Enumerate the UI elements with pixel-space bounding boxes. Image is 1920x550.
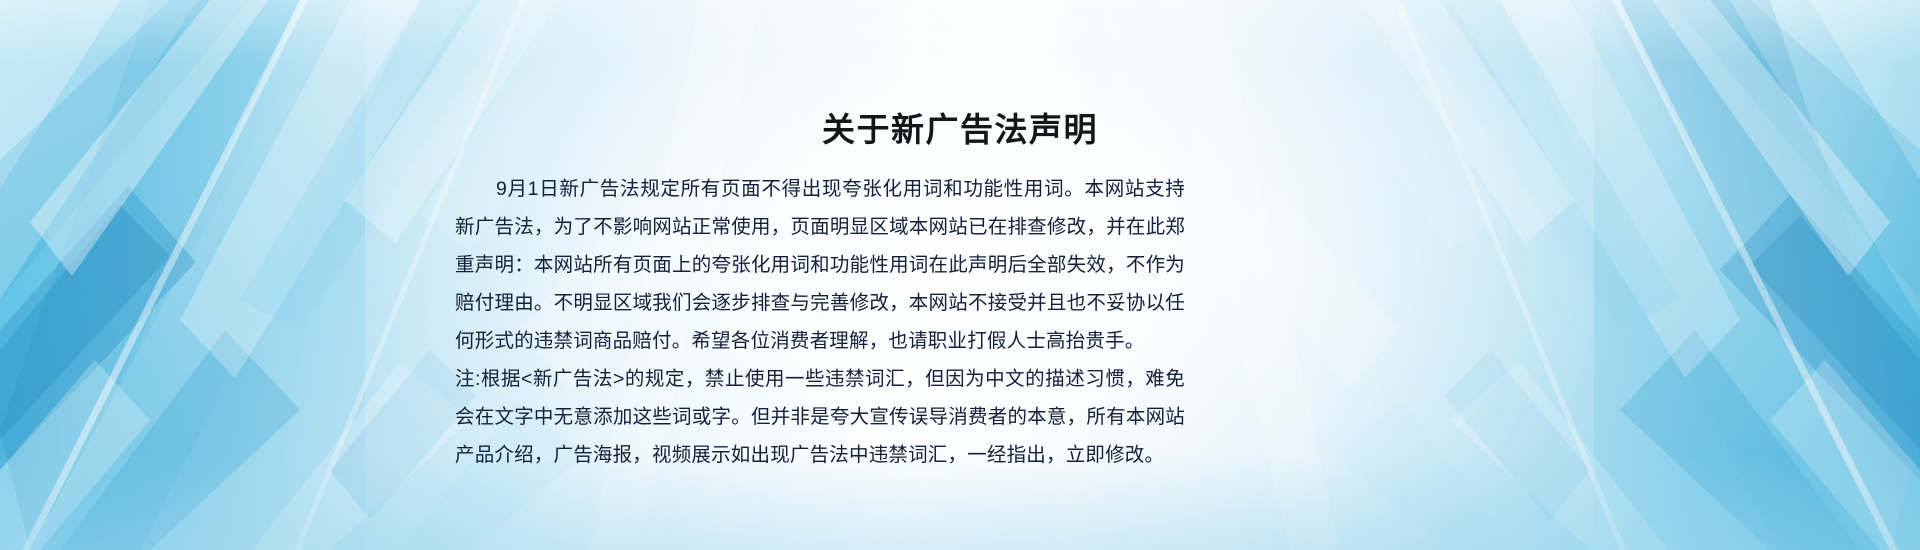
statement-paragraph-main: 9月1日新广告法规定所有页面不得出现夸张化用词和功能性用词。本网站支持新广告法，… (455, 170, 1185, 360)
page-title: 关于新广告法声明 (0, 110, 1920, 150)
statement-body: 9月1日新广告法规定所有页面不得出现夸张化用词和功能性用词。本网站支持新广告法，… (455, 170, 1185, 474)
banner-content: 关于新广告法声明 9月1日新广告法规定所有页面不得出现夸张化用词和功能性用词。本… (0, 0, 1920, 550)
advertising-law-statement-banner: 关于新广告法声明 9月1日新广告法规定所有页面不得出现夸张化用词和功能性用词。本… (0, 0, 1920, 550)
statement-paragraph-note: 注:根据<新广告法>的规定，禁止使用一些违禁词汇，但因为中文的描述习惯，难免会在… (455, 360, 1185, 474)
